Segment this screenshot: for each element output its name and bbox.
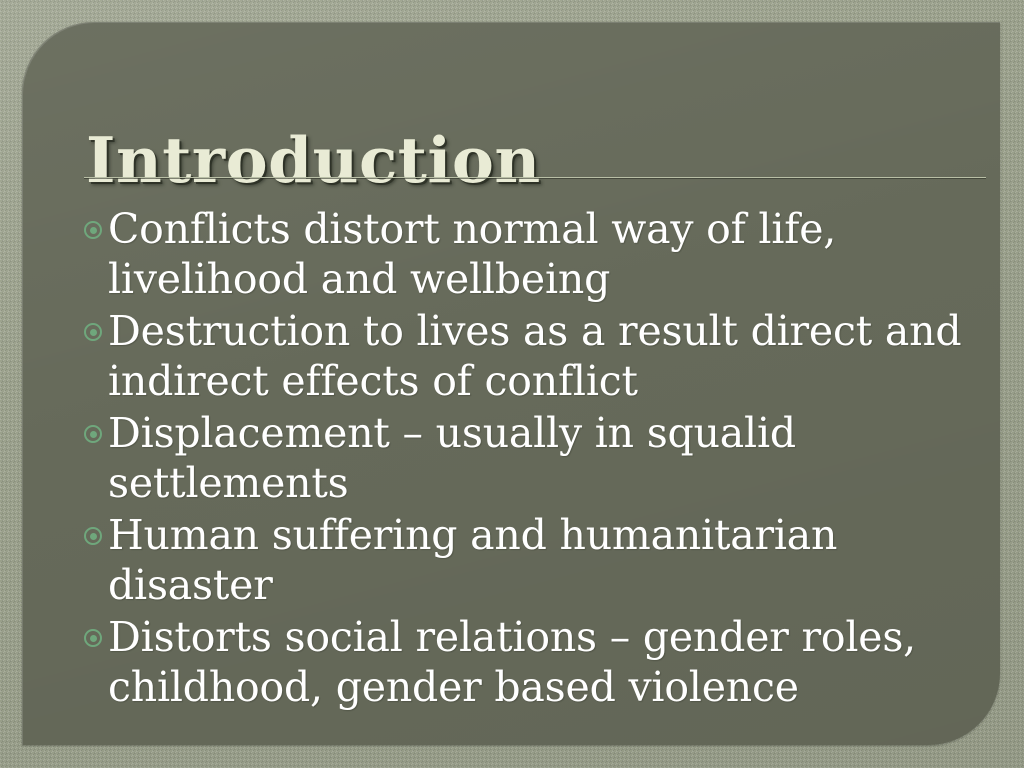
bullet-text: Distorts social relations – gender roles… <box>108 612 989 712</box>
ring-dot-bullet-icon <box>84 629 102 647</box>
ring-dot-bullet-icon <box>84 221 102 239</box>
slide-content-panel: Introduction Conflicts distort normal wa… <box>22 22 1000 745</box>
ring-dot-bullet-icon <box>84 323 102 341</box>
title-divider-rule <box>84 177 986 178</box>
ring-dot-bullet-icon <box>84 527 102 545</box>
bullet-text: Displacement – usually in squalid settle… <box>108 408 989 508</box>
list-item: Conflicts distort normal way of life, li… <box>84 204 989 304</box>
list-item: Destruction to lives as a result direct … <box>84 306 989 406</box>
bullet-text: Human suffering and humanitarian disaste… <box>108 510 989 610</box>
list-item: Human suffering and humanitarian disaste… <box>84 510 989 610</box>
presentation-slide: Introduction Conflicts distort normal wa… <box>0 0 1024 768</box>
list-item: Distorts social relations – gender roles… <box>84 612 989 712</box>
bullet-list: Conflicts distort normal way of life, li… <box>84 204 989 714</box>
bullet-text: Conflicts distort normal way of life, li… <box>108 204 989 304</box>
list-item: Displacement – usually in squalid settle… <box>84 408 989 508</box>
ring-dot-bullet-icon <box>84 425 102 443</box>
slide-title: Introduction <box>86 126 541 194</box>
bullet-text: Destruction to lives as a result direct … <box>108 306 989 406</box>
